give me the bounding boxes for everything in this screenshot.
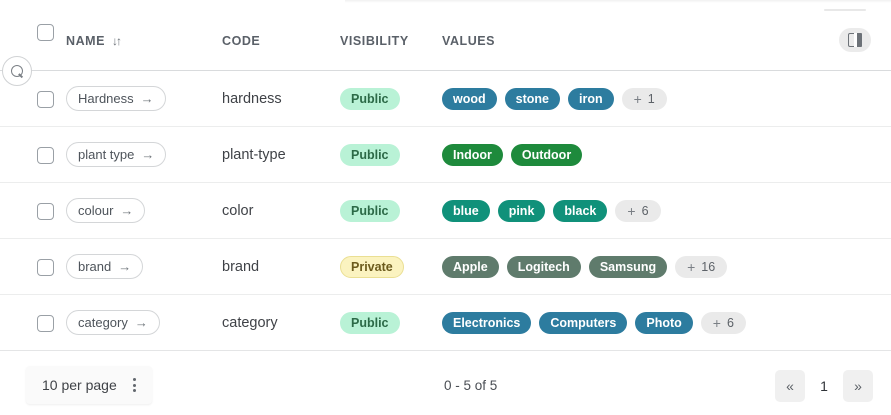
status-badge: Public (340, 200, 400, 222)
name-chip-label: Hardness (78, 91, 134, 106)
row-select-cell (0, 145, 66, 164)
header-cell-select (0, 22, 66, 41)
arrow-right-icon: → (120, 203, 133, 218)
arrow-right-icon: → (141, 147, 154, 162)
row-name-cell: plant type → (66, 142, 222, 167)
table-header: NAME ↓↑ CODE VISIBILITY VALUES (0, 22, 891, 70)
header-cell-name[interactable]: NAME ↓↑ (66, 22, 222, 48)
row-select-cell (0, 89, 66, 108)
header-label-visibility: VISIBILITY (340, 34, 409, 48)
more-values-chip[interactable]: + 6 (701, 312, 746, 334)
table-row[interactable]: brand → brand Private Apple Logitech Sam… (0, 239, 891, 295)
row-checkbox[interactable] (37, 203, 54, 220)
status-badge: Public (340, 312, 400, 334)
prev-page-button[interactable]: « (775, 370, 805, 402)
value-tag[interactable]: wood (442, 88, 497, 110)
per-page-label: 10 per page (42, 377, 117, 393)
value-tag[interactable]: black (553, 200, 607, 222)
header-label-code: CODE (222, 34, 260, 48)
name-chip-label: colour (78, 203, 113, 218)
value-tag[interactable]: Indoor (442, 144, 503, 166)
table-row[interactable]: Hardness → hardness Public wood stone ir… (0, 71, 891, 127)
row-values-cell: wood stone iron + 1 (442, 88, 891, 110)
search-icon (11, 65, 24, 78)
more-values-count: 16 (701, 260, 715, 274)
plus-icon: + (627, 204, 635, 218)
plus-icon: + (634, 92, 642, 106)
header-cell-code[interactable]: CODE (222, 22, 340, 48)
row-code-value: brand (222, 259, 340, 275)
more-values-count: 6 (642, 204, 649, 218)
top-panel-handle (824, 9, 866, 11)
columns-settings-button[interactable] (839, 28, 871, 52)
plus-icon: + (687, 260, 695, 274)
name-chip-link[interactable]: brand → (66, 254, 143, 279)
header-label-values: VALUES (442, 34, 495, 48)
status-badge: Public (340, 144, 400, 166)
value-tag[interactable]: blue (442, 200, 490, 222)
row-select-cell (0, 257, 66, 276)
table-row[interactable]: colour → color Public blue pink black + … (0, 183, 891, 239)
table-row[interactable]: plant type → plant-type Public Indoor Ou… (0, 127, 891, 183)
more-values-chip[interactable]: + 1 (622, 88, 667, 110)
value-tag[interactable]: Photo (635, 312, 692, 334)
row-values-cell: Apple Logitech Samsung + 16 (442, 256, 891, 278)
arrow-right-icon: → (141, 91, 154, 106)
row-checkbox[interactable] (37, 91, 54, 108)
search-button[interactable] (2, 56, 32, 86)
more-values-count: 6 (727, 316, 734, 330)
row-values-cell: Indoor Outdoor (442, 144, 891, 166)
name-chip-link[interactable]: Hardness → (66, 86, 166, 111)
more-values-chip[interactable]: + 16 (675, 256, 727, 278)
row-code-value: category (222, 315, 340, 331)
header-cell-values[interactable]: VALUES (442, 22, 891, 48)
status-badge: Public (340, 88, 400, 110)
header-cell-visibility[interactable]: VISIBILITY (340, 22, 442, 48)
select-all-checkbox[interactable] (37, 24, 54, 41)
row-checkbox[interactable] (37, 315, 54, 332)
status-badge: Private (340, 256, 404, 278)
name-chip-label: plant type (78, 147, 134, 162)
columns-layout-icon (848, 33, 862, 47)
name-chip-label: category (78, 315, 128, 330)
table-footer: 10 per page 0 - 5 of 5 « 1 » (0, 356, 891, 415)
value-tag[interactable]: Samsung (589, 256, 667, 278)
value-tag[interactable]: stone (505, 88, 560, 110)
row-visibility-cell: Public (340, 144, 442, 166)
value-tag[interactable]: pink (498, 200, 546, 222)
value-tag[interactable]: Electronics (442, 312, 531, 334)
pagination: « 1 » (775, 370, 873, 402)
taxonomy-table-page: NAME ↓↑ CODE VISIBILITY VALUES (0, 0, 891, 415)
name-chip-link[interactable]: colour → (66, 198, 145, 223)
next-page-button[interactable]: » (843, 370, 873, 402)
row-name-cell: colour → (66, 198, 222, 223)
arrow-right-icon: → (135, 315, 148, 330)
plus-icon: + (713, 316, 721, 330)
value-tag[interactable]: iron (568, 88, 614, 110)
name-chip-link[interactable]: category → (66, 310, 160, 335)
row-visibility-cell: Public (340, 312, 442, 334)
more-values-count: 1 (648, 92, 655, 106)
row-code-value: plant-type (222, 147, 340, 163)
row-checkbox[interactable] (37, 259, 54, 276)
name-chip-label: brand (78, 259, 111, 274)
kebab-vertical-icon[interactable] (133, 378, 136, 392)
row-values-cell: blue pink black + 6 (442, 200, 891, 222)
row-name-cell: category → (66, 310, 222, 335)
row-select-cell (0, 313, 66, 332)
row-code-value: hardness (222, 91, 340, 107)
arrow-right-icon: → (118, 259, 131, 274)
table-body: Hardness → hardness Public wood stone ir… (0, 71, 891, 351)
row-name-cell: Hardness → (66, 86, 222, 111)
row-select-cell (0, 201, 66, 220)
value-tag[interactable]: Computers (539, 312, 627, 334)
row-visibility-cell: Private (340, 256, 442, 278)
result-range-label: 0 - 5 of 5 (444, 378, 497, 393)
per-page-selector[interactable]: 10 per page (26, 366, 152, 404)
table-row[interactable]: category → category Public Electronics C… (0, 295, 891, 351)
name-chip-link[interactable]: plant type → (66, 142, 166, 167)
top-panel-edge (345, 0, 891, 3)
value-tag[interactable]: Apple (442, 256, 499, 278)
value-tag[interactable]: Logitech (507, 256, 581, 278)
row-values-cell: Electronics Computers Photo + 6 (442, 312, 891, 334)
row-visibility-cell: Public (340, 200, 442, 222)
row-code-value: color (222, 203, 340, 219)
row-visibility-cell: Public (340, 88, 442, 110)
value-tag[interactable]: Outdoor (511, 144, 582, 166)
row-checkbox[interactable] (37, 147, 54, 164)
row-name-cell: brand → (66, 254, 222, 279)
page-number-1[interactable]: 1 (809, 370, 839, 402)
sort-toggle-icon[interactable]: ↓↑ (112, 34, 120, 48)
more-values-chip[interactable]: + 6 (615, 200, 660, 222)
header-label-name: NAME (66, 34, 105, 48)
